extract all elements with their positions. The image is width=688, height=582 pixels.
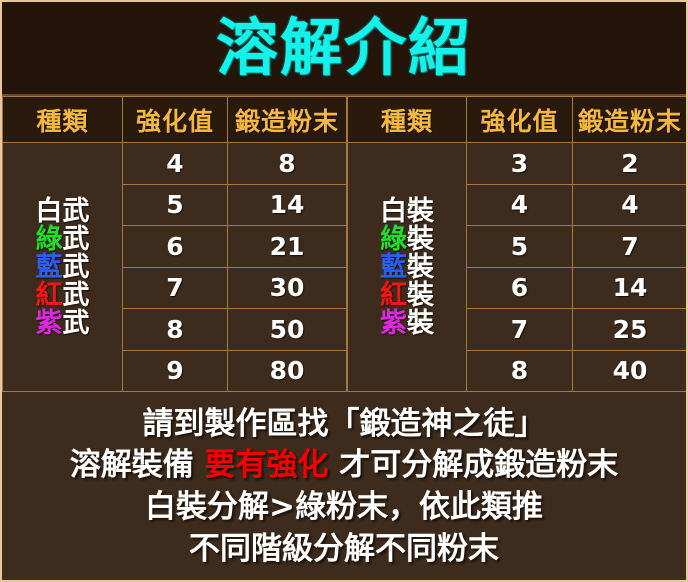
kind-label: 武: [63, 224, 90, 255]
column-header-powder: 鍛造粉末: [228, 97, 347, 143]
list-item: 藍裝: [380, 254, 434, 281]
powder-value: 8: [228, 143, 347, 185]
enhance-value: 5: [467, 226, 573, 268]
kind-label: 裝: [407, 308, 434, 339]
note-line-3: 白裝分解>綠粉末，依此類推: [145, 487, 543, 529]
kind-label: 武: [63, 280, 90, 311]
kind-label: 武: [63, 252, 90, 283]
powder-value: 50: [228, 309, 347, 351]
note-line-4: 不同階級分解不同粉末: [189, 529, 499, 571]
enhance-value: 8: [123, 309, 228, 351]
powder-value: 2: [573, 143, 688, 185]
list-item: 紅武: [36, 282, 90, 309]
note-segment: 溶解裝備: [70, 447, 205, 483]
quality-label: 藍: [36, 252, 63, 283]
kind-label: 武: [63, 308, 90, 339]
kind-label: 裝: [407, 252, 434, 283]
weapon-table: 種類 強化值 鍛造粉末 白武 綠武 藍武 紅武 紫武: [2, 96, 347, 392]
enhance-value: 4: [123, 143, 228, 185]
table-header-row: 種類 強化值 鍛造粉末: [3, 97, 347, 143]
page-title: 溶解介紹: [216, 17, 472, 79]
kind-label: 裝: [407, 224, 434, 255]
powder-value: 25: [573, 309, 688, 351]
note-line-1: 請到製作區找「鍛造神之徒」: [143, 404, 546, 446]
column-header-enhance: 強化值: [467, 97, 573, 143]
enhance-value: 3: [467, 143, 573, 185]
quality-label: 紅: [36, 280, 63, 311]
enhance-value: 6: [123, 226, 228, 268]
powder-value: 80: [228, 350, 347, 392]
quality-label: 綠: [36, 224, 63, 255]
column-header-enhance: 強化值: [123, 97, 228, 143]
armor-type-cell: 白裝 綠裝 藍裝 紅裝 紫裝: [348, 143, 467, 392]
quality-label: 綠: [380, 224, 407, 255]
enhance-value: 4: [467, 184, 573, 226]
note-segment: 才可分解成鍛造粉末: [329, 447, 619, 483]
quality-label: 紫: [380, 308, 407, 339]
armor-table: 種類 強化值 鍛造粉末 白裝 綠裝 藍裝 紅裝 紫裝: [347, 96, 688, 392]
note-segment-highlight: 要有強化: [205, 447, 329, 483]
dissolve-guide-page: 溶解介紹 種類 強化值 鍛造粉末 白武 綠武 藍武: [0, 0, 688, 582]
quality-label: 紅: [380, 280, 407, 311]
quality-label: 白: [36, 196, 63, 227]
column-header-type: 種類: [3, 97, 123, 143]
table-row: 白武 綠武 藍武 紅武 紫武 4 8: [3, 143, 347, 185]
note-line-2: 溶解裝備 要有強化 才可分解成鍛造粉末: [70, 445, 619, 487]
powder-value: 14: [228, 184, 347, 226]
note-segment: 白裝分解>綠粉末，依此類推: [145, 489, 543, 525]
armor-type-list: 白裝 綠裝 藍裝 紅裝 紫裝: [348, 198, 466, 337]
powder-value: 7: [573, 226, 688, 268]
powder-value: 14: [573, 267, 688, 309]
powder-value: 21: [228, 226, 347, 268]
tables-container: 種類 強化值 鍛造粉末 白武 綠武 藍武 紅武 紫武: [2, 96, 686, 392]
powder-value: 30: [228, 267, 347, 309]
weapon-type-cell: 白武 綠武 藍武 紅武 紫武: [3, 143, 123, 392]
note-segment: 請到製作區找「鍛造神之徒」: [143, 406, 546, 442]
list-item: 白武: [36, 198, 90, 225]
quality-label: 藍: [380, 252, 407, 283]
kind-label: 裝: [407, 196, 434, 227]
list-item: 紅裝: [380, 282, 434, 309]
enhance-value: 5: [123, 184, 228, 226]
table-row: 白裝 綠裝 藍裝 紅裝 紫裝 3 2: [348, 143, 688, 185]
powder-value: 40: [573, 350, 688, 392]
note-segment: 不同階級分解不同粉末: [189, 531, 499, 567]
title-banner: 溶解介紹: [2, 2, 686, 96]
kind-label: 武: [63, 196, 90, 227]
list-item: 綠武: [36, 226, 90, 253]
enhance-value: 7: [123, 267, 228, 309]
powder-value: 4: [573, 184, 688, 226]
list-item: 藍武: [36, 254, 90, 281]
enhance-value: 8: [467, 350, 573, 392]
enhance-value: 7: [467, 309, 573, 351]
list-item: 紫武: [36, 310, 90, 337]
enhance-value: 9: [123, 350, 228, 392]
list-item: 綠裝: [380, 226, 434, 253]
kind-label: 裝: [407, 280, 434, 311]
quality-label: 紫: [36, 308, 63, 339]
weapon-type-list: 白武 綠武 藍武 紅武 紫武: [3, 198, 122, 337]
column-header-type: 種類: [348, 97, 467, 143]
list-item: 紫裝: [380, 310, 434, 337]
quality-label: 白: [380, 196, 407, 227]
column-header-powder: 鍛造粉末: [573, 97, 688, 143]
list-item: 白裝: [380, 198, 434, 225]
enhance-value: 6: [467, 267, 573, 309]
table-header-row: 種類 強化值 鍛造粉末: [348, 97, 688, 143]
notes-section: 請到製作區找「鍛造神之徒」 溶解裝備 要有強化 才可分解成鍛造粉末 白裝分解>綠…: [2, 392, 686, 580]
